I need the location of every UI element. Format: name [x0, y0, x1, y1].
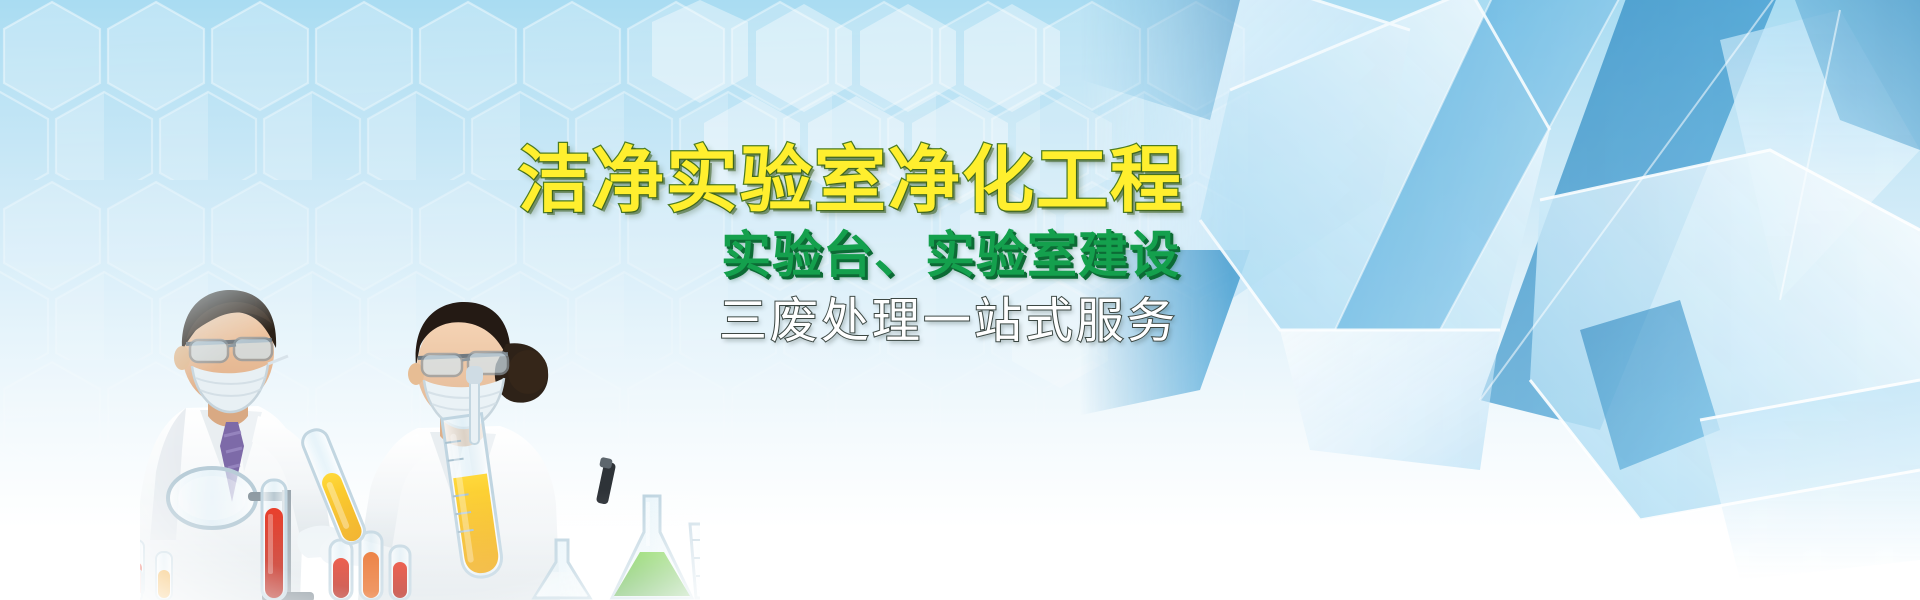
test-tubes-centre [330, 532, 410, 600]
graduated-cylinder [442, 414, 504, 580]
lab-glassware [108, 366, 760, 600]
test-tube-rack-red [108, 480, 286, 600]
banner-tagline: 三废处理一站式服务 [440, 292, 1178, 350]
banner-headline: 洁净实验室净化工程 [440, 140, 1184, 220]
crystal-polygon-decoration [1080, 0, 1920, 600]
flask-small [534, 540, 590, 598]
safety-glasses-female [418, 352, 508, 376]
banner: 洁净实验室净化工程 实验台、实验室建设 三废处理一站式服务 [0, 0, 1920, 600]
erlenmeyer-flask-green [612, 496, 692, 598]
safety-glasses-male [186, 338, 272, 362]
banner-copy: 洁净实验室净化工程 实验台、实验室建设 三废处理一站式服务 [440, 140, 1180, 350]
magnifier-stand [168, 468, 314, 600]
pipette [466, 366, 483, 444]
scientist-male [132, 290, 349, 600]
test-tube-yellow-held [299, 426, 368, 547]
beaker-large [690, 524, 760, 598]
banner-subheadline: 实验台、实验室建设 [440, 226, 1180, 284]
